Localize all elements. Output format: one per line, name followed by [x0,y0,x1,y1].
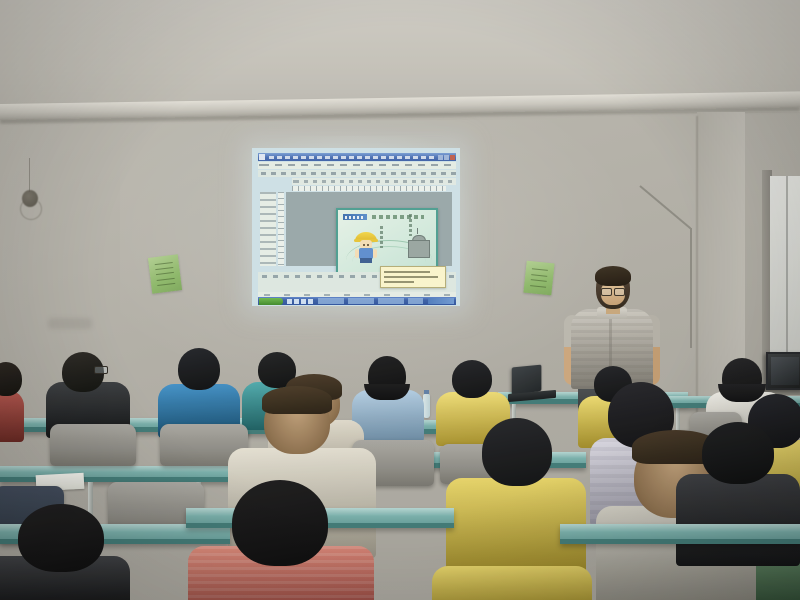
attendee-head [232,480,328,566]
attendee-head [18,504,104,572]
window-titlebar [258,153,456,161]
slide-title-text [372,215,424,219]
cartoon-worker-icon [354,228,378,264]
standard-toolbar[interactable] [258,170,456,177]
ql-icon-1 [287,299,292,304]
ql-icon-2 [294,299,299,304]
attendee-torso [676,474,800,566]
windows-taskbar[interactable] [258,297,456,305]
slide-vertical-text-left [380,226,383,248]
classroom-photo [0,0,800,600]
maximize-icon [444,155,449,160]
attendee-hair [262,386,332,414]
slide-logo-badge [343,214,367,220]
attendee-head [702,422,774,484]
app-icon [259,154,265,160]
attendee-torso [432,566,592,600]
water-bottle [423,394,430,418]
cartoon-legs [360,258,372,263]
ql-icon-3 [301,299,306,304]
wall-corner [696,116,698,416]
current-slide[interactable] [336,208,438,274]
menu-bar[interactable] [258,162,456,169]
sign-text-lines [154,260,175,288]
glasses-icon [601,288,625,294]
slide-canvas[interactable] [286,192,452,266]
window-title [269,156,434,159]
monitor-screen [771,357,799,385]
quick-launch-bar[interactable] [287,299,313,304]
presenter-hair [595,266,631,286]
equipment-icon [408,228,430,258]
window-controls[interactable] [438,155,455,160]
fan-guard-icon [20,198,42,220]
taskbar-tasks[interactable] [318,298,423,304]
wall-sign-right [523,261,554,296]
horizontal-ruler [292,186,446,191]
close-icon [450,155,455,160]
slide-outline-pane[interactable] [260,192,276,266]
wall-sign-left [148,254,182,293]
wall-smudge [48,318,92,329]
projection-screen [252,148,460,306]
glasses-icon [94,366,108,374]
desk-front-right [560,524,800,544]
tooltip-popup [380,266,446,288]
equipment-body [408,240,430,258]
eye-right-icon [367,244,369,246]
fixture-stem [29,158,30,192]
ql-icon-4 [308,299,313,304]
attendee-torso [0,390,24,442]
wall-cable-vertical [690,228,692,348]
start-button[interactable] [259,298,283,305]
antenna-icon [417,228,418,234]
bottle-cap [424,390,429,394]
system-tray[interactable] [428,298,454,304]
attendee-head [178,348,220,390]
wall-mounted-monitor [766,352,800,390]
formatting-toolbar[interactable] [292,178,456,185]
attendee-head [482,418,552,486]
chair [50,424,136,466]
arm-right [373,249,377,258]
vertical-ruler [278,192,284,266]
attendee-head [452,360,492,398]
eye-left-icon [363,244,365,246]
minimize-icon [438,155,443,160]
sign-text-lines [530,266,548,290]
